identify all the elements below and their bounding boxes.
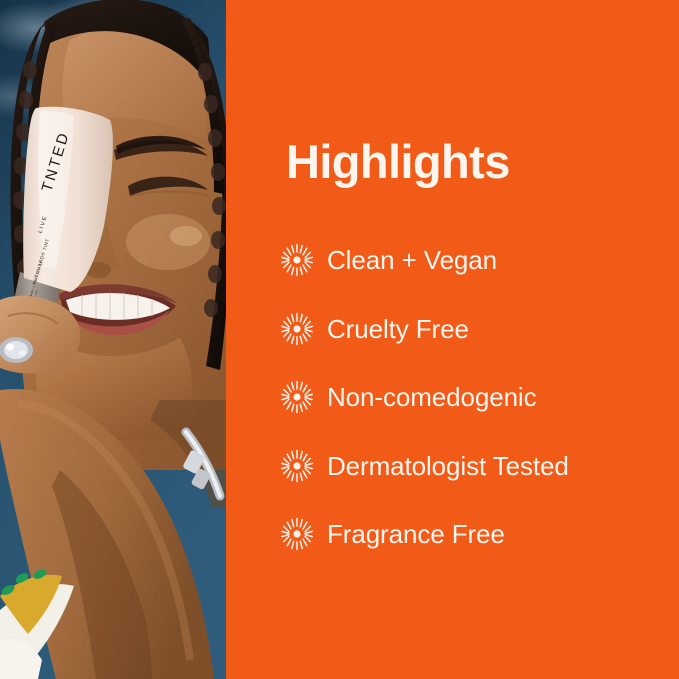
list-item: Fragrance Free: [280, 500, 670, 569]
product-highlights-banner: TNTED LIVE HUEGUARD® TINT 3-IN-1 TINT SP…: [0, 0, 679, 679]
list-item-label: Fragrance Free: [327, 519, 505, 549]
list-item: Dermatologist Tested: [280, 432, 670, 501]
page-title: Highlights: [286, 136, 510, 188]
list-item-label: Clean + Vegan: [327, 245, 497, 275]
sunburst-icon: [280, 380, 314, 414]
list-item-label: Cruelty Free: [327, 314, 469, 344]
sunburst-icon: [280, 517, 314, 551]
sunburst-icon: [280, 449, 314, 483]
list-item: Clean + Vegan: [280, 226, 670, 295]
list-item-label: Dermatologist Tested: [327, 451, 569, 481]
highlights-list: Clean + Vegan: [280, 226, 670, 569]
product-lifestyle-photo: TNTED LIVE HUEGUARD® TINT 3-IN-1 TINT SP…: [0, 0, 226, 679]
highlights-panel: Highlights: [226, 0, 679, 679]
list-item-label: Non-comedogenic: [327, 382, 537, 412]
list-item: Cruelty Free: [280, 295, 670, 364]
list-item: Non-comedogenic: [280, 363, 670, 432]
sunburst-icon: [280, 312, 314, 346]
sunburst-icon: [280, 243, 314, 277]
